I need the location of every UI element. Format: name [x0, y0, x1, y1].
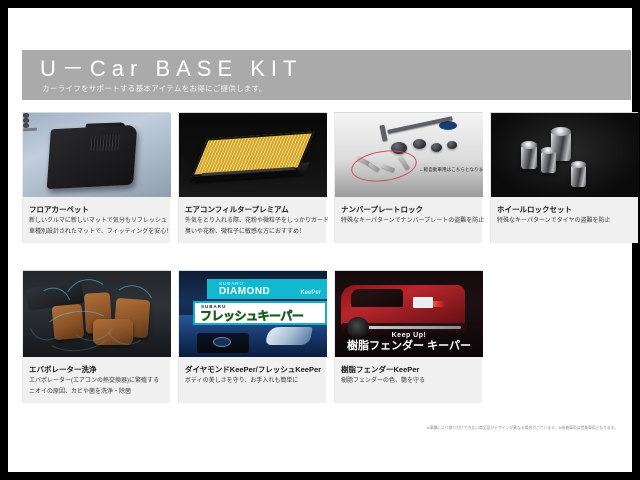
wheel-lock-nut-top: [541, 147, 556, 154]
fender-keeper-title: 樹脂フェンダー キーパー: [335, 340, 483, 353]
air-filter-photo: [179, 113, 327, 197]
page-title: U－Car BASE KIT: [40, 55, 302, 83]
product-desc-line1: 特殊なキーパターンでタイヤの盗難を防止: [497, 217, 632, 226]
product-desc-line2: 臭いや花粉、微粒子に敏感な方におすすめ！: [185, 228, 320, 237]
product-desc-line1: 外気をとり入れる際、花粉や微粒子をしっかりガード: [185, 217, 320, 226]
product-card-wheel-lock-set[interactable]: ホイールロックセット 特殊なキーパターンでタイヤの盗難を防止: [490, 112, 638, 243]
suv-window-shape: [351, 289, 403, 307]
license-plate-shape: [413, 297, 433, 308]
product-card-air-filter[interactable]: エアコンフィルタープレミアム 外気をとり入れる際、花粉や微粒子をしっかりガード …: [178, 112, 326, 243]
page-subtitle: カーライフをサポートする基本アイテムをお得にご提供します。: [42, 84, 267, 94]
content-sheet: U－Car BASE KIT カーライフをサポートする基本アイテムをお得にご提供…: [8, 8, 632, 472]
product-card-resin-fender-keeper[interactable]: Keep Up! 樹脂フェンダー キーパー 樹脂フェンダーKeePer 樹脂フェ…: [334, 270, 482, 403]
diamond-banner-tail: KeePer: [300, 290, 321, 296]
product-card-evaporator-cleaning[interactable]: エバポレーター洗浄 エバポレーター(エアコンの熱交換器)に繁殖する ニオイの原因…: [22, 270, 170, 403]
product-card-number-plate-lock[interactable]: ←軽自動車用はこちらとなります。 ナンバープレートロック 特殊なキーパターンでナ…: [334, 112, 482, 243]
keeper-banner-photo: SUBARU DIAMOND KeePer SUBARU フレッシュキーパー: [179, 271, 327, 357]
keep-up-label: Keep Up!: [335, 332, 483, 340]
kei-car-caption: ←軽自動車用はこちらとなります。: [419, 167, 483, 173]
subaru-emblem-icon: [213, 337, 231, 347]
product-info: ホイールロックセット 特殊なキーパターンでタイヤの盗難を防止: [491, 197, 638, 243]
product-title: フロアカーペット: [29, 204, 164, 215]
car-interior-airflow-photo: [23, 271, 171, 357]
product-desc-line1: 樹脂フェンダーの色、艶を守る: [341, 377, 476, 386]
catalog-page: U－Car BASE KIT カーライフをサポートする基本アイテムをお得にご提供…: [0, 0, 640, 480]
product-info: エアコンフィルタープレミアム 外気をとり入れる際、花粉や微粒子をしっかりガード …: [179, 197, 326, 243]
taillight-icon: [431, 301, 445, 307]
kei-car-highlight-ellipse: [349, 147, 419, 186]
product-title: ホイールロックセット: [497, 204, 632, 215]
headlight-shape: [265, 327, 313, 345]
product-title: 樹脂フェンダーKeePer: [341, 364, 476, 375]
floor-carpet-photo: [23, 113, 171, 197]
product-info: エバポレーター洗浄 エバポレーター(エアコンの熱交換器)に繁殖する ニオイの原因…: [23, 357, 170, 403]
product-desc-line1: エバポレーター(エアコンの熱交換器)に繁殖する: [29, 377, 164, 386]
resin-fender-banner-photo: Keep Up! 樹脂フェンダー キーパー: [335, 271, 483, 357]
product-info: ナンバープレートロック 特殊なキーパターンでナンバープレートの盗難を防止: [335, 197, 482, 243]
wheel-lock-nut-top: [571, 161, 586, 168]
wheel-lock-photo: [491, 113, 639, 197]
product-title: エバポレーター洗浄: [29, 364, 164, 375]
product-title: ダイヤモンドKeePer/フレッシュKeePer: [185, 364, 320, 375]
wheel-lock-nut-icon: [541, 151, 556, 173]
product-card-diamond-keeper[interactable]: SUBARU DIAMOND KeePer SUBARU フレッシュキーパー ダ…: [178, 270, 326, 403]
product-desc-line1: ボディの美しさを守り、お手入れも簡単に: [185, 377, 320, 386]
lock-bolt-icon: [431, 143, 442, 152]
header-band: U－Car BASE KIT カーライフをサポートする基本アイテムをお得にご提供…: [22, 50, 631, 100]
wheel-lock-nut-top: [551, 127, 571, 136]
floor-mat-heel-pad: [90, 134, 119, 151]
product-info: 樹脂フェンダーKeePer 樹脂フェンダーの色、艶を守る: [335, 357, 482, 403]
product-info: ダイヤモンドKeePer/フレッシュKeePer ボディの美しさを守り、お手入れ…: [179, 357, 326, 403]
diamond-keeper-banner: SUBARU DIAMOND KeePer: [207, 279, 327, 299]
allen-key-short-arm: [379, 125, 387, 142]
product-desc-line1: 新しいクルマに新しいマットで気分もリフレッシュ: [29, 217, 164, 226]
product-desc-line2: ニオイの原因、カビや菌を洗浄・除菌: [29, 388, 164, 397]
product-title: ナンバープレートロック: [341, 204, 476, 215]
product-desc-line2: 車種別設計されたマットで、フィッティングを安心！: [29, 228, 164, 237]
wheel-lock-nut-icon: [571, 165, 586, 187]
product-info: フロアカーペット 新しいクルマに新しいマットで気分もリフレッシュ 車種別設計され…: [23, 197, 170, 243]
chrome-trim-shape: [365, 326, 461, 329]
fresh-keeper-banner: SUBARU フレッシュキーパー: [193, 301, 327, 325]
lock-bolt-icon: [447, 141, 457, 149]
lock-bolt-icon: [413, 139, 426, 149]
number-plate-lock-photo: ←軽自動車用はこちらとなります。: [335, 113, 483, 197]
product-card-floor-carpet[interactable]: フロアカーペット 新しいクルマに新しいマットで気分もリフレッシュ 車種別設計され…: [22, 112, 170, 243]
product-desc-line1: 特殊なキーパターンでナンバープレートの盗難を防止: [341, 217, 476, 226]
fresh-banner-main: フレッシュキーパー: [200, 309, 303, 323]
floor-mat-logo: [23, 128, 37, 132]
floor-mat-front-shape: [47, 125, 138, 189]
fender-keeper-caption: Keep Up! 樹脂フェンダー キーパー: [335, 332, 483, 353]
footnote-disclaimer: ※車種により取り付けできない商品及びデザインが異なる場合がございます。※装着車両…: [198, 426, 618, 431]
wheel-lock-nut-top: [521, 141, 537, 149]
product-title: エアコンフィルタープレミアム: [185, 204, 320, 215]
